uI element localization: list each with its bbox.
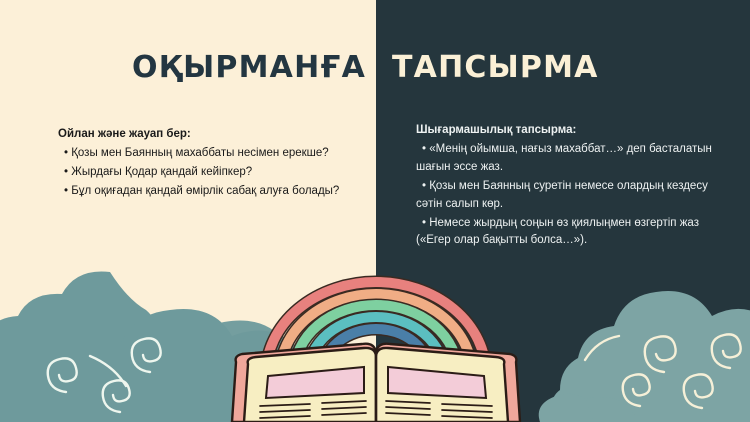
left-item-1: • Қозы мен Баянның махаббаты несімен ере… [58, 145, 358, 163]
right-title: ТАПСЫРМА [392, 50, 599, 85]
right-text-block: Шығармашылық тапсырма: • «Менің ойымша, … [416, 122, 734, 251]
slide: ОҚЫРМАНҒА ТАПСЫРМА Ойлан және жауап бер:… [0, 0, 750, 422]
left-item-3: • Бұл оқиғадан қандай өмірлік сабақ алуғ… [58, 183, 358, 201]
left-title: ОҚЫРМАНҒА [132, 50, 366, 85]
book-rainbow-illustration [226, 266, 526, 422]
right-item-3: • Немесе жырдың соңын өз қиялыңмен өзгер… [416, 215, 734, 251]
left-heading: Ойлан және жауап бер: [58, 126, 358, 142]
left-text-block: Ойлан және жауап бер: • Қозы мен Баянның… [58, 126, 358, 202]
open-book-icon [232, 344, 520, 422]
left-item-2: • Жырдағы Қодар қандай кейіпкер? [58, 164, 358, 182]
right-item-2: • Қозы мен Баянның суретін немесе оларды… [416, 178, 734, 214]
right-heading: Шығармашылық тапсырма: [416, 122, 734, 138]
right-item-1: • «Менің ойымша, нағыз махаббат…» деп ба… [416, 141, 734, 177]
